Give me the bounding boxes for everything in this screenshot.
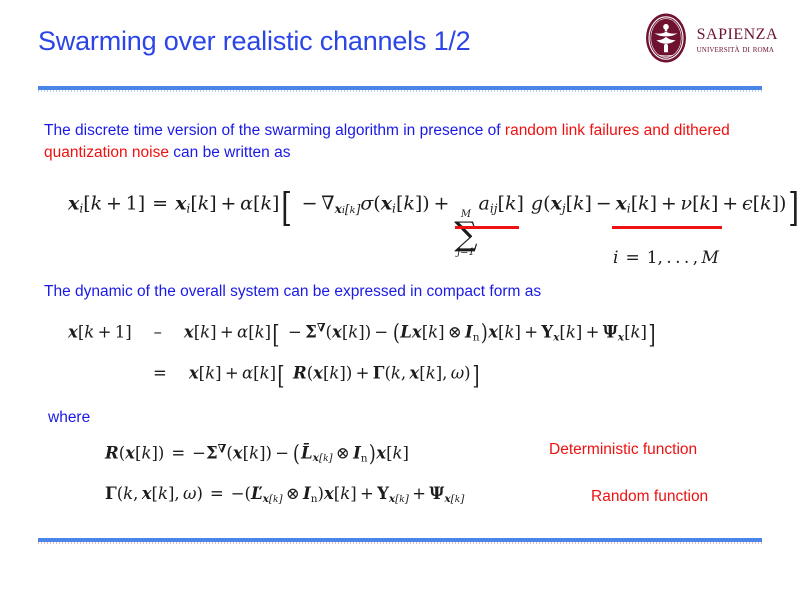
presentation-slide: Swarming over realistic channels 1/2 Sap…: [0, 0, 800, 599]
intro-segment-1: The discrete time version of the swarmin…: [44, 122, 505, 139]
logo-name: Sapienza: [697, 20, 778, 43]
sapienza-logo: Sapienza Università di Roma: [644, 12, 778, 64]
header-divider: [38, 86, 762, 90]
footer-divider: [38, 538, 762, 542]
intro-paragraph: The discrete time version of the swarmin…: [44, 120, 744, 164]
logo-wordmark: Sapienza Università di Roma: [697, 20, 778, 56]
equation-underline-aij: [455, 226, 519, 229]
equation-compact-line2: =x[k] + α[k][R(x[k]) + Γ(k, x[k], ω)]: [153, 361, 481, 391]
logo-subtitle: Università di Roma: [697, 45, 778, 56]
equation-random-function: Γ(k, x[k], ω)=−(Ľx[k] ⊗ In)x[k] + Υx[k]…: [105, 484, 464, 505]
compact-form-paragraph: The dynamic of the overall system can be…: [44, 281, 744, 303]
intro-segment-2: can be written as: [169, 144, 290, 161]
where-label: where: [48, 407, 90, 429]
page-title: Swarming over realistic channels 1/2: [38, 26, 471, 57]
equation-compact-line1: x[k + 1]–x[k] + α[k][− Σ∇(x[k]) − (Lx[k]…: [68, 320, 657, 350]
label-deterministic-function: Deterministic function: [549, 441, 697, 459]
university-seal-icon: [644, 12, 688, 64]
equation-underline-noise: [612, 226, 722, 229]
equation-index-range: i=1, . . . , M: [613, 248, 719, 268]
label-random-function: Random function: [591, 488, 708, 506]
equation-deterministic-function: R(x[k])=−Σ∇(x[k]) − (L̄x[k] ⊗ In)x[k]: [105, 441, 409, 467]
